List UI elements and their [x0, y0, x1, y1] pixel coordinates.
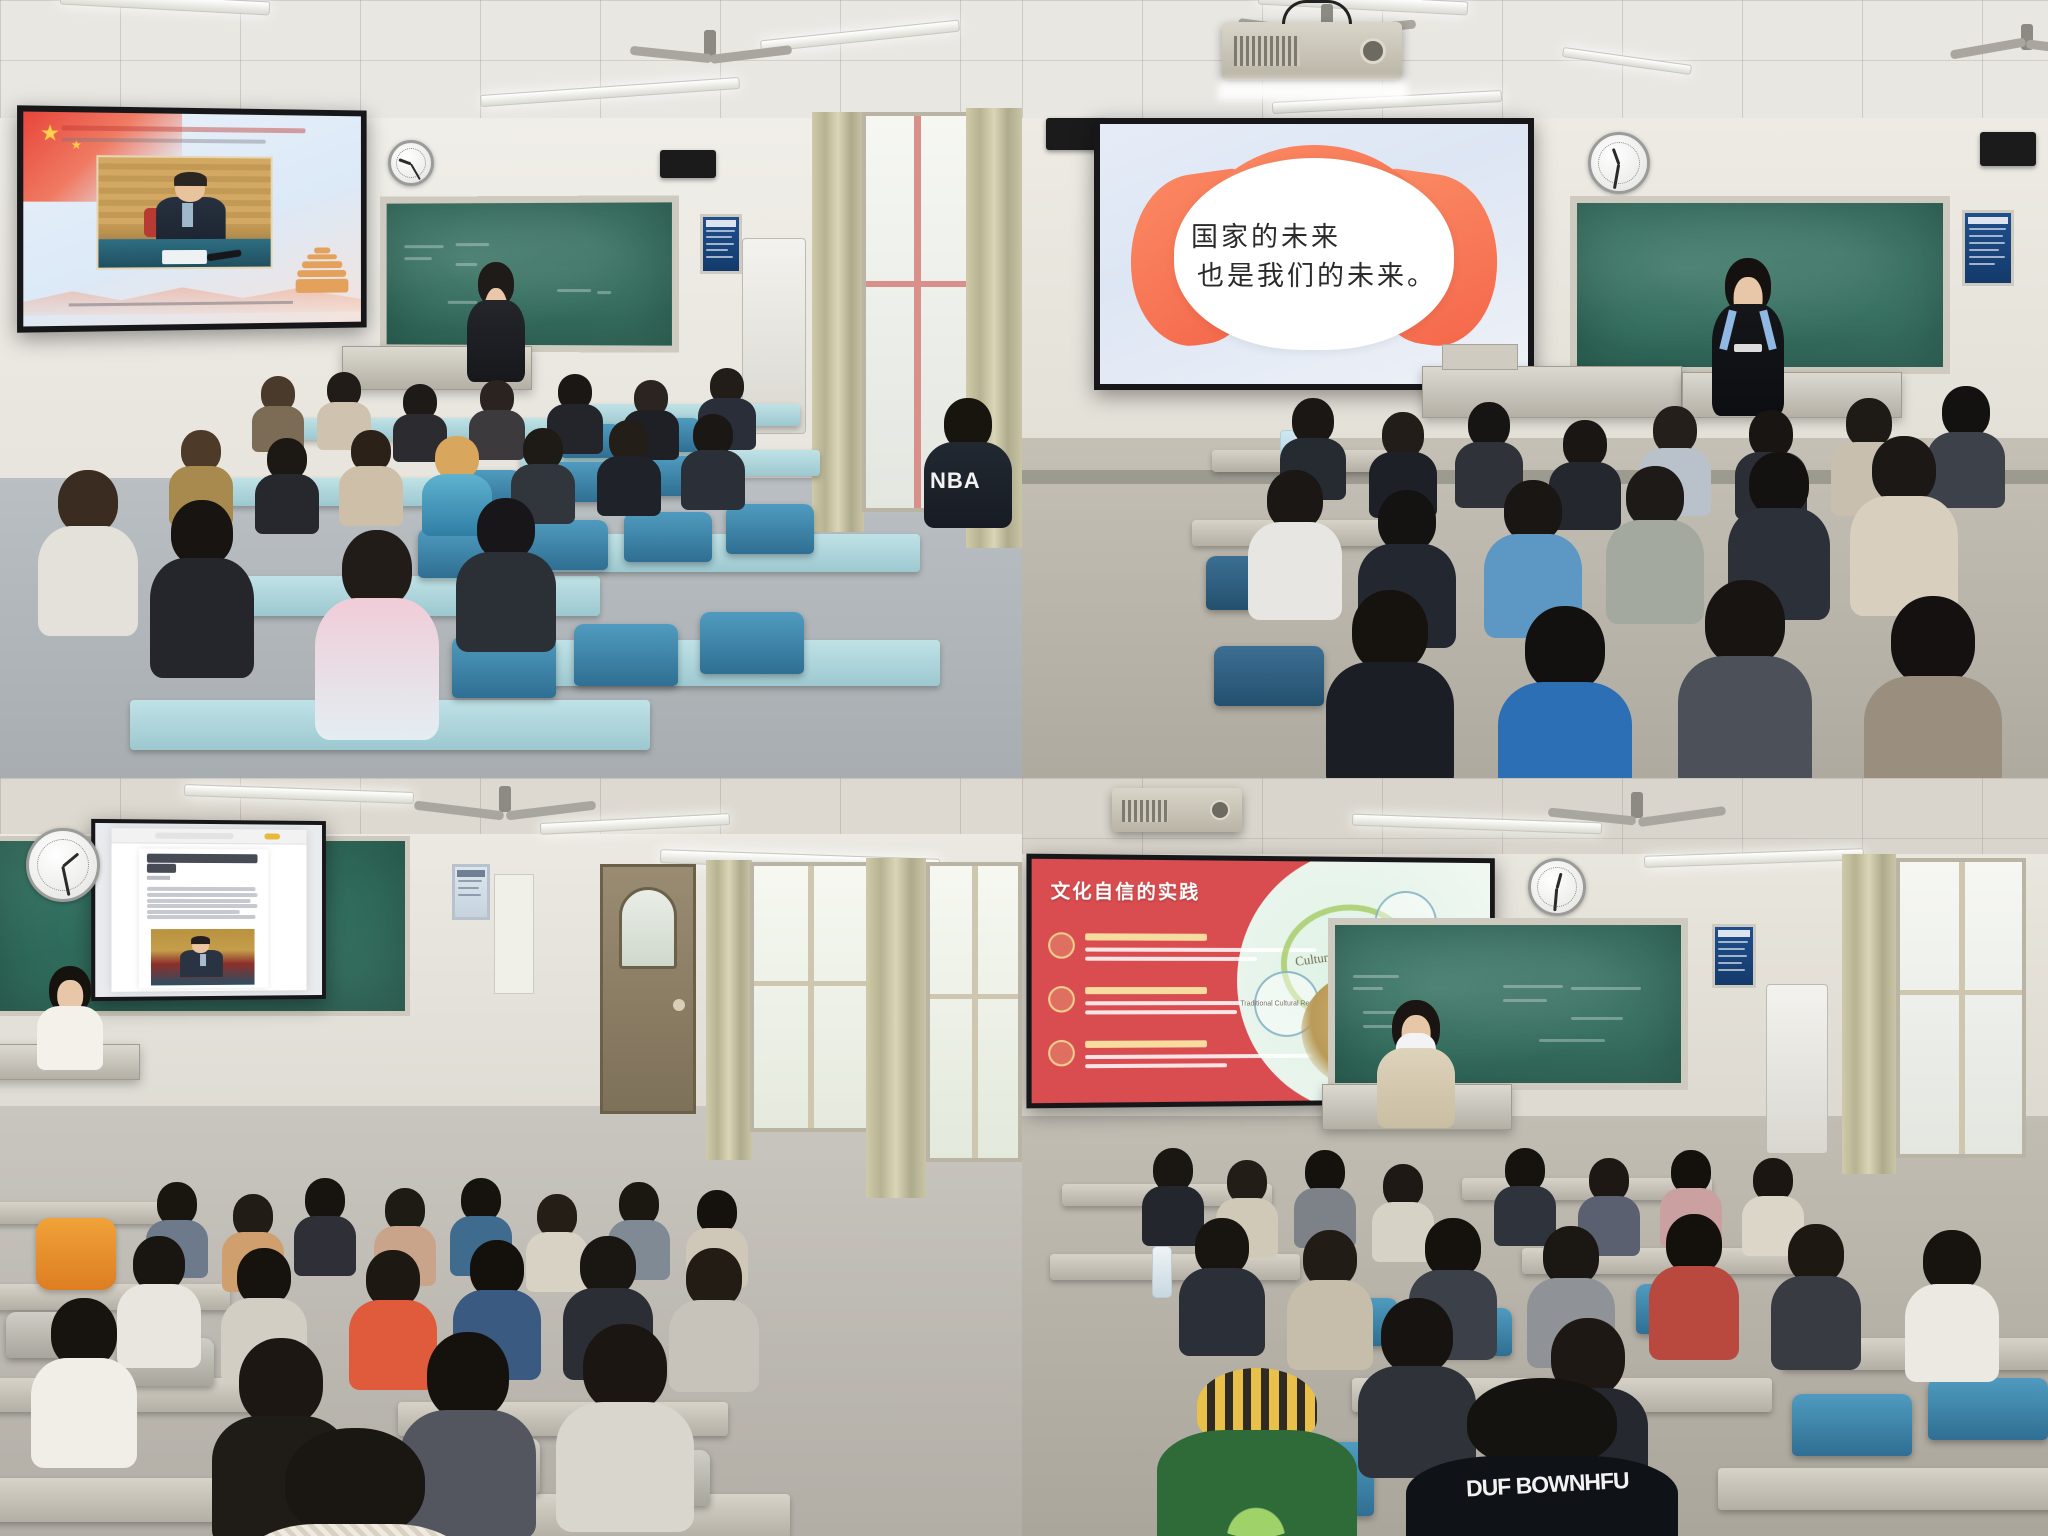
student-head [1788, 1224, 1844, 1284]
bullet-heading-bar [1085, 933, 1207, 940]
window-mullion [1959, 862, 1965, 1154]
chalk-writing [404, 257, 432, 260]
student-body [31, 1358, 137, 1468]
student-head [1872, 436, 1936, 504]
student-body [681, 450, 745, 510]
pagoda-graphic [296, 248, 348, 294]
window-mullion [808, 866, 814, 1128]
bullet-marker [1048, 986, 1075, 1012]
poster-line [1718, 948, 1745, 950]
student-head [1525, 606, 1605, 692]
student-body [339, 466, 403, 526]
poster-line [458, 880, 482, 882]
chalk-writing [456, 243, 490, 246]
student-chair [726, 504, 814, 554]
poster-title-bar [706, 220, 737, 227]
fan-hub [499, 786, 511, 812]
wall-speaker [660, 150, 716, 178]
photo-figure-tie [182, 203, 192, 227]
student-foreground [240, 1428, 470, 1536]
projection-screen: ★ ★ [17, 105, 367, 332]
panel-top-left: ★ ★ [0, 0, 1022, 778]
student-body [233, 1524, 477, 1536]
student-body [255, 474, 319, 534]
classroom-poster [1962, 210, 2014, 286]
chalk-writing [1353, 987, 1383, 990]
poster-line [1969, 235, 2003, 237]
browser-toolbar [111, 828, 306, 844]
student [1252, 470, 1338, 610]
student-body [1649, 1266, 1739, 1360]
student-head [1543, 1226, 1599, 1286]
window-mullion [866, 281, 966, 287]
student-head [1378, 490, 1436, 552]
bullet-heading-bar [1085, 987, 1207, 994]
chalk-writing [1353, 975, 1399, 978]
classroom-poster [1712, 924, 1756, 988]
projector-lens [1360, 38, 1386, 64]
student-head [171, 500, 233, 566]
student-head [1381, 1298, 1453, 1374]
jacket-logo-text: NBA [930, 468, 981, 494]
window-curtain [1842, 854, 1896, 1174]
projector-vent [1234, 36, 1300, 66]
poster-line [1718, 962, 1742, 964]
student [40, 470, 136, 630]
fan-blade [2026, 39, 2048, 57]
chalk-writing [404, 245, 443, 248]
projector-vent [1122, 800, 1168, 822]
student-with-logo-jacket: NBA [924, 398, 1012, 528]
student-with-hood [1162, 1368, 1352, 1536]
student [256, 438, 318, 526]
projector-cable [1282, 0, 1352, 24]
student [1330, 590, 1450, 778]
student-chair [1928, 1378, 2048, 1440]
student [1496, 1148, 1554, 1236]
bullet-marker [1048, 1039, 1075, 1066]
student-body [38, 526, 138, 636]
ceiling-fan [1562, 792, 1712, 834]
desk-computer-box [1442, 344, 1518, 370]
fan-blade [710, 45, 792, 64]
chalk-writing [1571, 987, 1641, 990]
student [1908, 1230, 1996, 1370]
chalk-dust [387, 202, 672, 345]
slide-photo [97, 155, 273, 270]
instructor-body [37, 1006, 103, 1070]
student [1296, 1150, 1354, 1238]
student-head [1504, 480, 1562, 542]
classroom-window [926, 862, 1022, 1162]
window-curtain [706, 860, 752, 1160]
bullet-text-line [1085, 957, 1257, 961]
poster-title-bar [1718, 930, 1751, 937]
presenter-body [467, 300, 525, 382]
article-text-line [147, 915, 255, 919]
poster-line [1718, 941, 1748, 943]
poster-line [1969, 263, 1996, 265]
student-body [1498, 682, 1632, 778]
student-head [239, 1338, 323, 1426]
student-head [1749, 452, 1809, 516]
slide-text-block: 国家的未来 也是我们的未来。 [1191, 218, 1437, 296]
student [318, 530, 436, 730]
slide-line-2: 也是我们的未来。 [1191, 257, 1437, 296]
slide-line-1: 国家的未来 [1191, 218, 1437, 257]
article-headline [147, 854, 258, 864]
bullet-text-line [1085, 1010, 1237, 1014]
student-head [1653, 406, 1697, 454]
student-head [583, 1324, 667, 1412]
classroom-window [1896, 858, 2026, 1158]
student [682, 414, 744, 502]
student-body [1179, 1268, 1265, 1356]
panel-bottom-right: 文化自信的实践 [1022, 778, 2048, 1536]
student-head [1563, 420, 1607, 468]
student-desk [1718, 1468, 2048, 1510]
classroom-door[interactable] [600, 864, 696, 1114]
chalk-writing [1571, 1017, 1623, 1020]
air-conditioner [1766, 984, 1828, 1154]
student-with-graphic-hoodie: DUF BOWNHFU [1412, 1378, 1672, 1536]
door-handle[interactable] [673, 999, 685, 1011]
wall-clock [388, 140, 434, 186]
student-body [1287, 1280, 1373, 1370]
bullet-text-line [1085, 1063, 1227, 1068]
bullet-marker [1048, 932, 1075, 958]
student-head [1626, 466, 1684, 528]
poster-line [458, 887, 480, 889]
panel-bottom-left: news article page with headline, body pa… [0, 778, 1022, 1536]
presenter [1380, 1000, 1452, 1126]
poster-line [1969, 256, 2005, 258]
window-curtain [866, 858, 926, 1198]
fan-blade [630, 46, 712, 64]
student-head [1666, 1214, 1722, 1274]
slide-top-left: ★ ★ [23, 112, 361, 327]
student-body [1771, 1276, 1861, 1370]
door-window [619, 887, 677, 970]
poster-line [1969, 242, 2006, 244]
student-head [1267, 470, 1323, 530]
article-figure-hair [191, 936, 210, 944]
ceiling-projector [1222, 22, 1402, 80]
student [296, 1178, 354, 1266]
student [152, 500, 252, 670]
orange-backpack [36, 1218, 116, 1290]
wall-clock [26, 828, 100, 902]
photo-collage: ★ ★ [0, 0, 2048, 1536]
hoodie-graphic [1206, 1486, 1306, 1536]
poster-line [706, 236, 732, 238]
student-body [1248, 522, 1342, 620]
poster-line [1969, 249, 1999, 251]
projector-glow [1218, 80, 1408, 100]
article-photo [151, 929, 254, 985]
classroom-poster [700, 214, 742, 274]
fan-hub [1631, 792, 1643, 818]
student-head [1891, 596, 1975, 686]
chalkboard [380, 195, 679, 352]
wall-speaker [1980, 132, 2036, 166]
student [34, 1298, 134, 1458]
student [1854, 436, 1954, 608]
ceiling-grid [1022, 0, 2048, 120]
browser-badge-icon [264, 833, 280, 839]
student-body [456, 552, 556, 652]
student [598, 420, 660, 508]
student-head [580, 1236, 636, 1296]
ceiling-fan [1962, 24, 2048, 64]
ceiling-projector [1112, 788, 1242, 832]
student [1774, 1224, 1858, 1358]
student-head [1705, 580, 1785, 666]
article-text-line [147, 893, 258, 897]
classroom-window [750, 862, 870, 1132]
window-mullion [754, 981, 866, 986]
poster-title-bar [457, 870, 485, 877]
student [1182, 1218, 1262, 1344]
fan-blade [1950, 37, 2026, 59]
student-body [1864, 676, 2002, 778]
article-text-line [147, 904, 258, 908]
projector-lens [1210, 800, 1230, 820]
student [1290, 1230, 1370, 1358]
student-chair [1792, 1394, 1912, 1456]
window-mullion [1900, 990, 2022, 995]
fan-hub [704, 30, 716, 56]
ceiling-fan [430, 786, 580, 826]
ceiling-fan [640, 30, 780, 70]
student-body [1326, 662, 1454, 778]
projection-screen: news article page with headline, body pa… [91, 819, 326, 1001]
student-chair [574, 624, 678, 686]
article-text-line [147, 899, 250, 903]
window-mullion [930, 994, 1018, 999]
student-head [686, 1248, 742, 1308]
photo-figure-hair [174, 172, 207, 186]
chalk-writing [1503, 999, 1547, 1002]
student [252, 376, 304, 446]
student-head [1749, 410, 1793, 458]
chalk-writing [1539, 1039, 1605, 1042]
student-body [150, 558, 254, 678]
ceiling [1022, 0, 2048, 120]
student-body [1905, 1284, 1999, 1382]
slide-title: 文化自信的实践 [1051, 876, 1201, 904]
chalk-writing [1503, 985, 1563, 988]
student-body [315, 598, 439, 740]
student [1652, 1214, 1736, 1348]
poster-line [1969, 228, 2007, 230]
student-head [285, 1428, 425, 1536]
student-head [342, 530, 412, 608]
student-head [427, 1332, 509, 1420]
article-byline [147, 876, 170, 880]
wall-clock [1588, 132, 1650, 194]
student [1868, 596, 1998, 778]
student-body [556, 1402, 694, 1532]
student-body [597, 456, 661, 516]
browser-window [111, 828, 306, 991]
student-chair [624, 512, 712, 562]
photo-papers [162, 250, 207, 264]
presenter-body [1712, 304, 1784, 416]
panel-top-right: 国家的未来 也是我们的未来。 [1022, 0, 2048, 778]
article-text-line [147, 910, 240, 914]
poster-line [706, 256, 733, 258]
poster-line [706, 249, 728, 251]
student [560, 1324, 690, 1524]
poster-line [706, 243, 734, 245]
student-head [477, 498, 535, 560]
student [1682, 580, 1808, 778]
student-head [1467, 1378, 1617, 1468]
student [458, 498, 554, 648]
slide-bottom-left: news article page with headline, body pa… [95, 823, 322, 997]
presenter-body [1377, 1048, 1455, 1128]
article-column [139, 848, 268, 988]
student-chair [700, 612, 804, 674]
star-icon: ★ [40, 122, 60, 145]
poster-line [458, 894, 481, 896]
article-figure-tie [200, 954, 206, 966]
door-notice [494, 874, 534, 994]
article-text-line [147, 887, 255, 891]
bullet-heading-bar [1085, 1040, 1207, 1048]
presenter [1712, 258, 1784, 416]
classroom-poster [452, 864, 490, 920]
student-body [1678, 656, 1812, 778]
article-headline-second-line [147, 864, 176, 873]
student-chair [1214, 646, 1324, 706]
window-mullion [972, 866, 978, 1158]
student-head [58, 470, 118, 534]
student [1502, 606, 1628, 778]
poster-title-bar [1968, 217, 2008, 224]
student-head [1425, 1218, 1481, 1278]
chalk-writing [597, 291, 611, 294]
student-head [1942, 386, 1990, 438]
poster-line [1718, 955, 1747, 957]
lotus-graphic: 国家的未来 也是我们的未来。 [1130, 145, 1498, 363]
presenter [466, 262, 526, 382]
poster-line [706, 230, 735, 232]
poster-line [1718, 969, 1745, 971]
fan-blade [1548, 807, 1636, 825]
student-head [1352, 590, 1428, 672]
water-bottle [1152, 1246, 1172, 1298]
window-mullion [914, 116, 921, 508]
chalk-writing [557, 289, 591, 292]
jacket-logo [1734, 344, 1762, 352]
student [340, 430, 402, 518]
address-bar [155, 832, 233, 838]
student-head [1923, 1230, 1981, 1292]
wall-clock [1528, 858, 1586, 916]
instructor [38, 966, 102, 1066]
